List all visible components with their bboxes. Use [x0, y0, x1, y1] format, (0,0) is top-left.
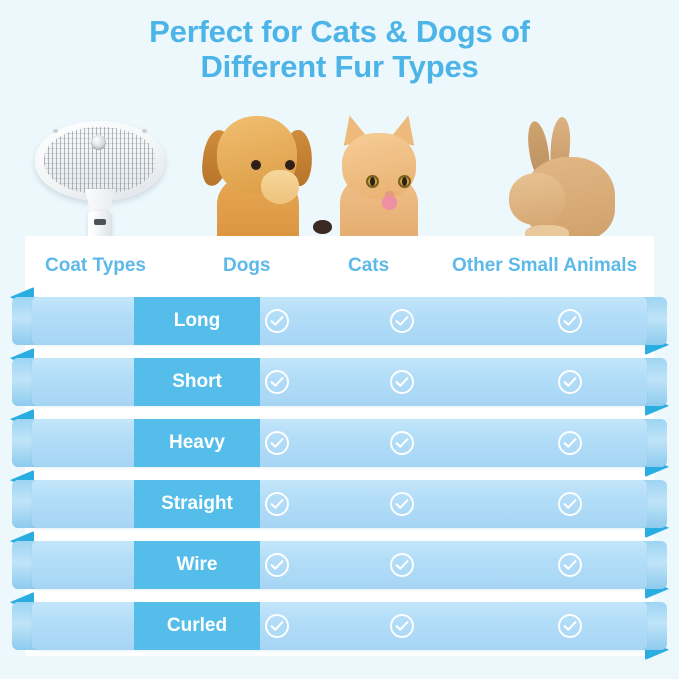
- check-circle-icon: [557, 308, 583, 334]
- page-title-line-2: Different Fur Types: [0, 49, 679, 84]
- dog-eye-left: [251, 160, 261, 170]
- check-circle-icon: [264, 369, 290, 395]
- check-circle-icon: [389, 613, 415, 639]
- cat-eye-right: [398, 175, 411, 188]
- check-circle-icon: [557, 613, 583, 639]
- page-title: Perfect for Cats & Dogs of Different Fur…: [0, 14, 679, 84]
- ribbon-band: Curled: [32, 602, 647, 650]
- row-label-text: Curled: [167, 615, 227, 637]
- rabbit-head: [509, 173, 565, 225]
- row-label-curled: Curled: [134, 602, 260, 650]
- orange-tabby-cat-icon: [330, 113, 428, 245]
- check-circle-icon: [389, 369, 415, 395]
- table-header-row: Coat Types Dogs Cats Other Small Animals: [25, 255, 654, 293]
- column-header-cats: Cats: [348, 255, 389, 277]
- check-circle-icon: [389, 430, 415, 456]
- row-label-wire: Wire: [134, 541, 260, 589]
- brush-screw-left: [53, 129, 58, 133]
- pet-grooming-brush-icon: [35, 115, 170, 245]
- cat-eye-left: [366, 175, 379, 188]
- row-label-long: Long: [134, 297, 260, 345]
- row-label-heavy: Heavy: [134, 419, 260, 467]
- row-label-short: Short: [134, 358, 260, 406]
- cat-head: [342, 133, 416, 199]
- ribbon-band: Wire: [32, 541, 647, 589]
- check-circle-icon: [264, 552, 290, 578]
- table-row: Long: [0, 297, 679, 345]
- row-label-text: Short: [172, 371, 222, 393]
- column-header-coat-types: Coat Types: [45, 255, 146, 277]
- check-circle-icon: [389, 552, 415, 578]
- check-circle-icon: [389, 308, 415, 334]
- cat-tongue: [382, 196, 397, 210]
- dog-eye-right: [285, 160, 295, 170]
- row-label-text: Straight: [161, 493, 233, 515]
- table-body: LongShortHeavyStraightWireCurled: [0, 297, 679, 657]
- ribbon-band: Heavy: [32, 419, 647, 467]
- ribbon-band: Straight: [32, 480, 647, 528]
- golden-retriever-dog-icon: [195, 100, 320, 245]
- table-row: Straight: [0, 480, 679, 528]
- brush-screw-right: [142, 129, 147, 133]
- row-label-text: Long: [174, 310, 220, 332]
- tan-rabbit-icon: [495, 117, 620, 245]
- check-circle-icon: [557, 491, 583, 517]
- check-circle-icon: [557, 552, 583, 578]
- column-header-dogs: Dogs: [223, 255, 271, 277]
- brush-handle-slot: [94, 219, 106, 225]
- check-circle-icon: [264, 430, 290, 456]
- check-circle-icon: [264, 491, 290, 517]
- table-row: Short: [0, 358, 679, 406]
- check-circle-icon: [264, 308, 290, 334]
- table-row: Curled: [0, 602, 679, 650]
- hero-image-strip: [0, 95, 679, 245]
- ribbon-band: Long: [32, 297, 647, 345]
- table-row: Heavy: [0, 419, 679, 467]
- ribbon-band: Short: [32, 358, 647, 406]
- column-header-other-small-animals: Other Small Animals: [452, 255, 637, 277]
- brush-release-button: [91, 135, 106, 150]
- check-circle-icon: [557, 430, 583, 456]
- table-row: Wire: [0, 541, 679, 589]
- row-label-text: Wire: [176, 554, 217, 576]
- row-label-text: Heavy: [169, 432, 225, 454]
- row-label-straight: Straight: [134, 480, 260, 528]
- check-circle-icon: [389, 491, 415, 517]
- dog-head: [217, 116, 297, 194]
- check-circle-icon: [264, 613, 290, 639]
- page-title-line-1: Perfect for Cats & Dogs of: [0, 14, 679, 49]
- dog-muzzle: [261, 170, 299, 204]
- check-circle-icon: [557, 369, 583, 395]
